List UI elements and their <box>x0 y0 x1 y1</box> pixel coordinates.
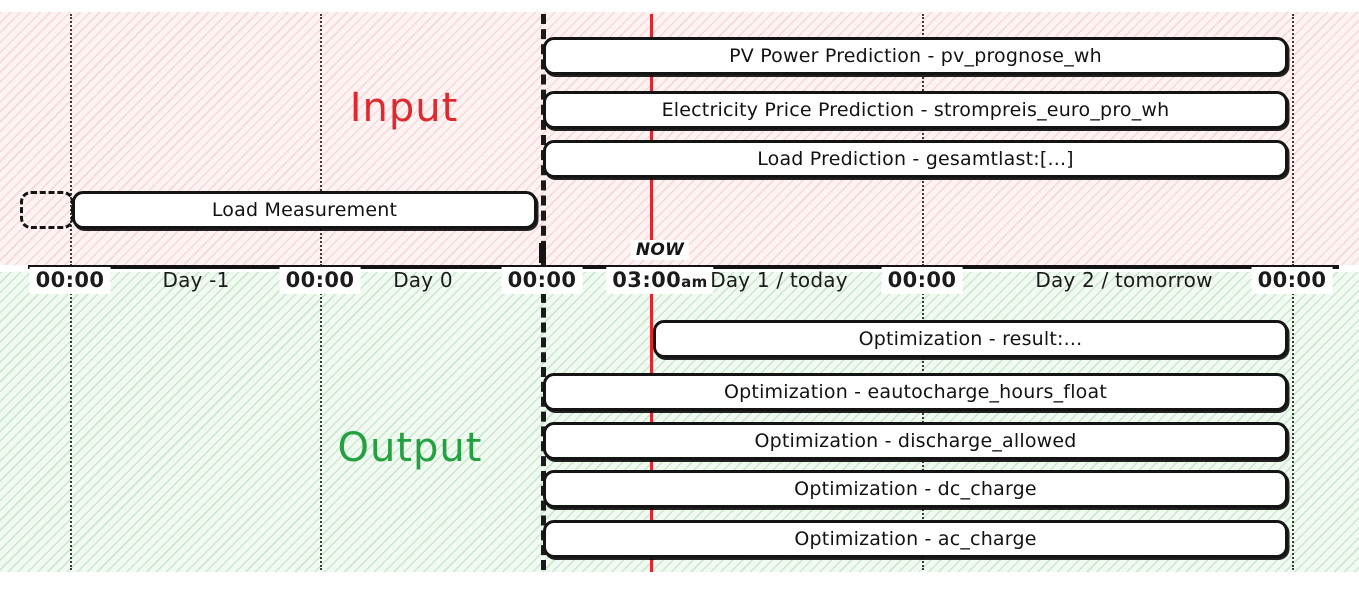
output-bar-label: Optimization - result:... <box>859 328 1083 350</box>
input-bar-1[interactable]: Electricity Price Prediction - stromprei… <box>543 91 1288 129</box>
gridline-day0-start <box>320 278 322 570</box>
output-bar-0[interactable]: Optimization - result:... <box>653 320 1288 358</box>
input-bar-2[interactable]: Load Prediction - gesamtlast:[...] <box>543 140 1288 178</box>
output-bar-1[interactable]: Optimization - eautocharge_hours_float <box>543 373 1288 411</box>
measurement-bar-0[interactable] <box>20 191 74 229</box>
axis-time-label-2: 00:00 <box>502 267 583 294</box>
axis-day-label-3: Day 2 / tomorrow <box>1029 267 1218 294</box>
axis-time-label-0: 00:00 <box>30 267 111 294</box>
gridline-day3-start <box>1292 14 1294 266</box>
axis-time-label-4: 00:00 <box>1252 267 1333 294</box>
axis-now-time-label: 03:00am <box>606 267 713 294</box>
measurement-bar-1[interactable]: Load Measurement <box>72 191 537 229</box>
now-caption: NOW <box>631 240 689 260</box>
axis-tick-day1 <box>539 243 546 263</box>
axis-time-label-3: 00:00 <box>882 267 963 294</box>
gridline-day-minus1-start <box>70 278 72 570</box>
output-bar-label: Optimization - eautocharge_hours_float <box>724 381 1107 403</box>
measurement-bar-label: Load Measurement <box>212 199 397 221</box>
axis-time-label-1: 00:00 <box>280 267 361 294</box>
input-bar-label: Electricity Price Prediction - stromprei… <box>662 99 1170 121</box>
timeline-diagram: Input Output PV Power Prediction - pv_pr… <box>0 0 1359 592</box>
output-bar-4[interactable]: Optimization - ac_charge <box>543 520 1288 558</box>
output-section-title: Output <box>338 425 483 471</box>
gridline-day3-start <box>1292 278 1294 570</box>
input-bar-0[interactable]: PV Power Prediction - pv_prognose_wh <box>543 37 1288 75</box>
output-bar-label: Optimization - ac_charge <box>794 528 1036 550</box>
output-bar-label: Optimization - dc_charge <box>794 478 1037 500</box>
input-section-title: Input <box>350 85 459 131</box>
axis-day-label-2: Day 1 / today <box>704 267 854 294</box>
axis-day-label-1: Day 0 <box>387 267 459 294</box>
input-bar-label: PV Power Prediction - pv_prognose_wh <box>729 45 1102 67</box>
output-bar-label: Optimization - discharge_allowed <box>754 430 1076 452</box>
axis-day-label-0: Day -1 <box>157 267 236 294</box>
output-bar-3[interactable]: Optimization - dc_charge <box>543 470 1288 508</box>
input-bar-label: Load Prediction - gesamtlast:[...] <box>757 148 1074 170</box>
output-bar-2[interactable]: Optimization - discharge_allowed <box>543 422 1288 460</box>
gridline-day-minus1-start <box>70 14 72 266</box>
